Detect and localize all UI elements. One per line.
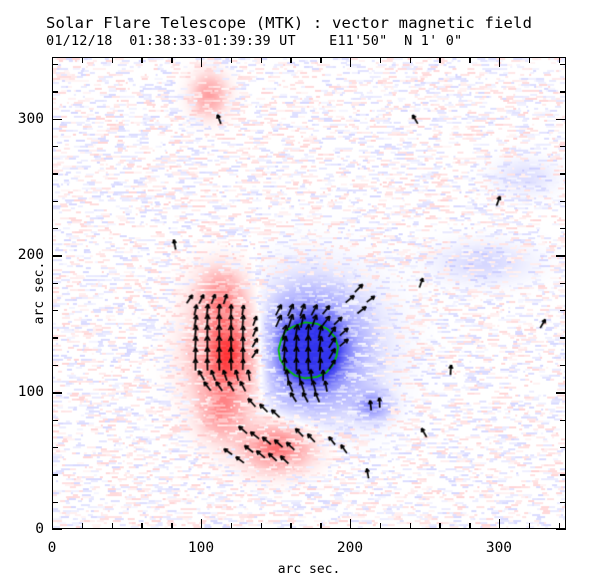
axis-tick — [171, 523, 172, 529]
axis-tick — [469, 523, 470, 529]
axis-tick — [52, 57, 53, 67]
axis-tick — [560, 420, 566, 421]
axis-tick — [112, 57, 113, 63]
axis-tick — [52, 201, 58, 202]
axis-tick — [52, 474, 58, 475]
axis-tick — [261, 57, 262, 63]
axis-tick — [350, 519, 351, 529]
axis-tick — [560, 365, 566, 366]
axis-tick — [320, 523, 321, 529]
axis-tick — [560, 64, 566, 65]
axis-tick — [560, 201, 566, 202]
axis-tick — [560, 146, 566, 147]
axis-tick — [112, 523, 113, 529]
x-tick-label: 0 — [48, 540, 57, 556]
axis-tick — [52, 420, 58, 421]
axis-tick — [290, 57, 291, 63]
axis-tick — [350, 57, 351, 67]
axis-tick — [559, 57, 560, 63]
axis-tick — [560, 283, 566, 284]
axis-tick — [320, 57, 321, 63]
axis-tick — [499, 57, 500, 67]
axis-tick — [201, 57, 202, 67]
axis-tick — [171, 57, 172, 63]
axis-tick — [52, 310, 58, 311]
axis-tick — [52, 529, 62, 530]
axis-tick — [52, 146, 58, 147]
axis-tick — [439, 57, 440, 63]
axis-tick — [560, 337, 566, 338]
axis-tick — [52, 337, 58, 338]
axis-tick — [439, 523, 440, 529]
axis-tick — [560, 502, 566, 503]
axis-tick — [380, 57, 381, 63]
y-axis-title: arc sec. — [32, 262, 47, 325]
magnetogram-figure: Solar Flare Telescope (MTK) : vector mag… — [0, 0, 612, 585]
y-tick-label: 0 — [10, 521, 44, 537]
page-title: Solar Flare Telescope (MTK) : vector mag… — [46, 14, 532, 32]
y-tick-label: 100 — [10, 384, 44, 400]
x-tick-label: 100 — [188, 540, 214, 556]
x-tick-label: 300 — [486, 540, 512, 556]
axis-tick — [52, 502, 58, 503]
y-tick-label: 300 — [10, 111, 44, 127]
axis-tick — [529, 57, 530, 63]
axis-tick — [556, 392, 566, 393]
axis-tick — [560, 447, 566, 448]
axis-tick — [52, 173, 58, 174]
axis-tick — [52, 91, 58, 92]
axis-tick — [52, 255, 62, 256]
x-tick-label: 200 — [337, 540, 363, 556]
axis-tick — [52, 447, 58, 448]
axis-tick — [141, 523, 142, 529]
axis-tick — [380, 523, 381, 529]
axis-tick — [499, 519, 500, 529]
axis-tick — [290, 523, 291, 529]
axis-tick — [52, 64, 58, 65]
axis-tick — [556, 529, 566, 530]
axis-tick — [560, 228, 566, 229]
axis-tick — [52, 519, 53, 529]
axis-tick — [52, 228, 58, 229]
axis-tick — [52, 119, 62, 120]
magnetogram-canvas — [53, 58, 565, 528]
axis-tick — [560, 91, 566, 92]
x-axis-title: arc sec. — [278, 562, 341, 577]
axis-tick — [560, 173, 566, 174]
axis-tick — [52, 365, 58, 366]
axis-tick — [410, 523, 411, 529]
axis-tick — [82, 57, 83, 63]
axis-tick — [556, 255, 566, 256]
axis-tick — [410, 57, 411, 63]
observation-metadata: 01/12/18 01:38:33-01:39:39 UT E11'50" N … — [46, 33, 462, 49]
axis-tick — [82, 523, 83, 529]
axis-tick — [52, 283, 58, 284]
axis-tick — [556, 119, 566, 120]
axis-tick — [529, 523, 530, 529]
axis-tick — [261, 523, 262, 529]
plot-area — [52, 57, 566, 529]
axis-tick — [231, 57, 232, 63]
axis-tick — [52, 392, 62, 393]
axis-tick — [469, 57, 470, 63]
axis-tick — [141, 57, 142, 63]
axis-tick — [231, 523, 232, 529]
axis-tick — [201, 519, 202, 529]
axis-tick — [560, 310, 566, 311]
axis-tick — [560, 474, 566, 475]
